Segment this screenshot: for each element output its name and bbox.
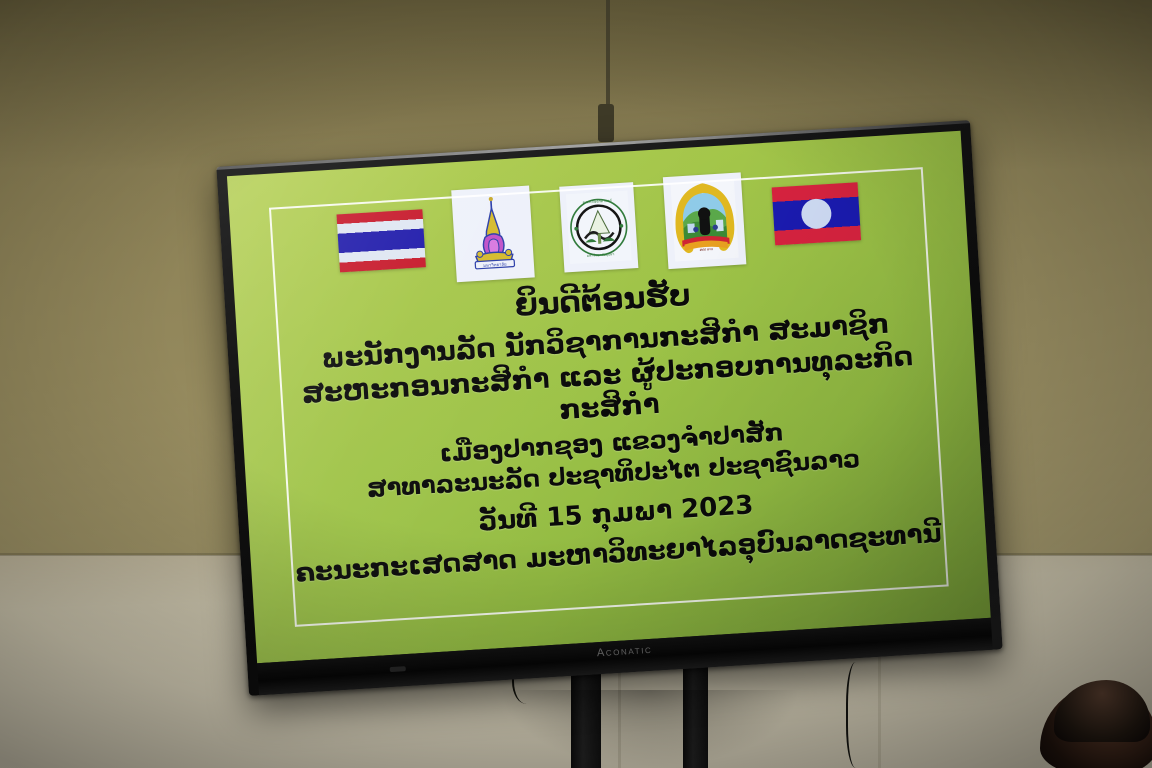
image-vignette bbox=[0, 0, 1152, 768]
scene: มหาวิทยาลัย bbox=[0, 0, 1152, 768]
